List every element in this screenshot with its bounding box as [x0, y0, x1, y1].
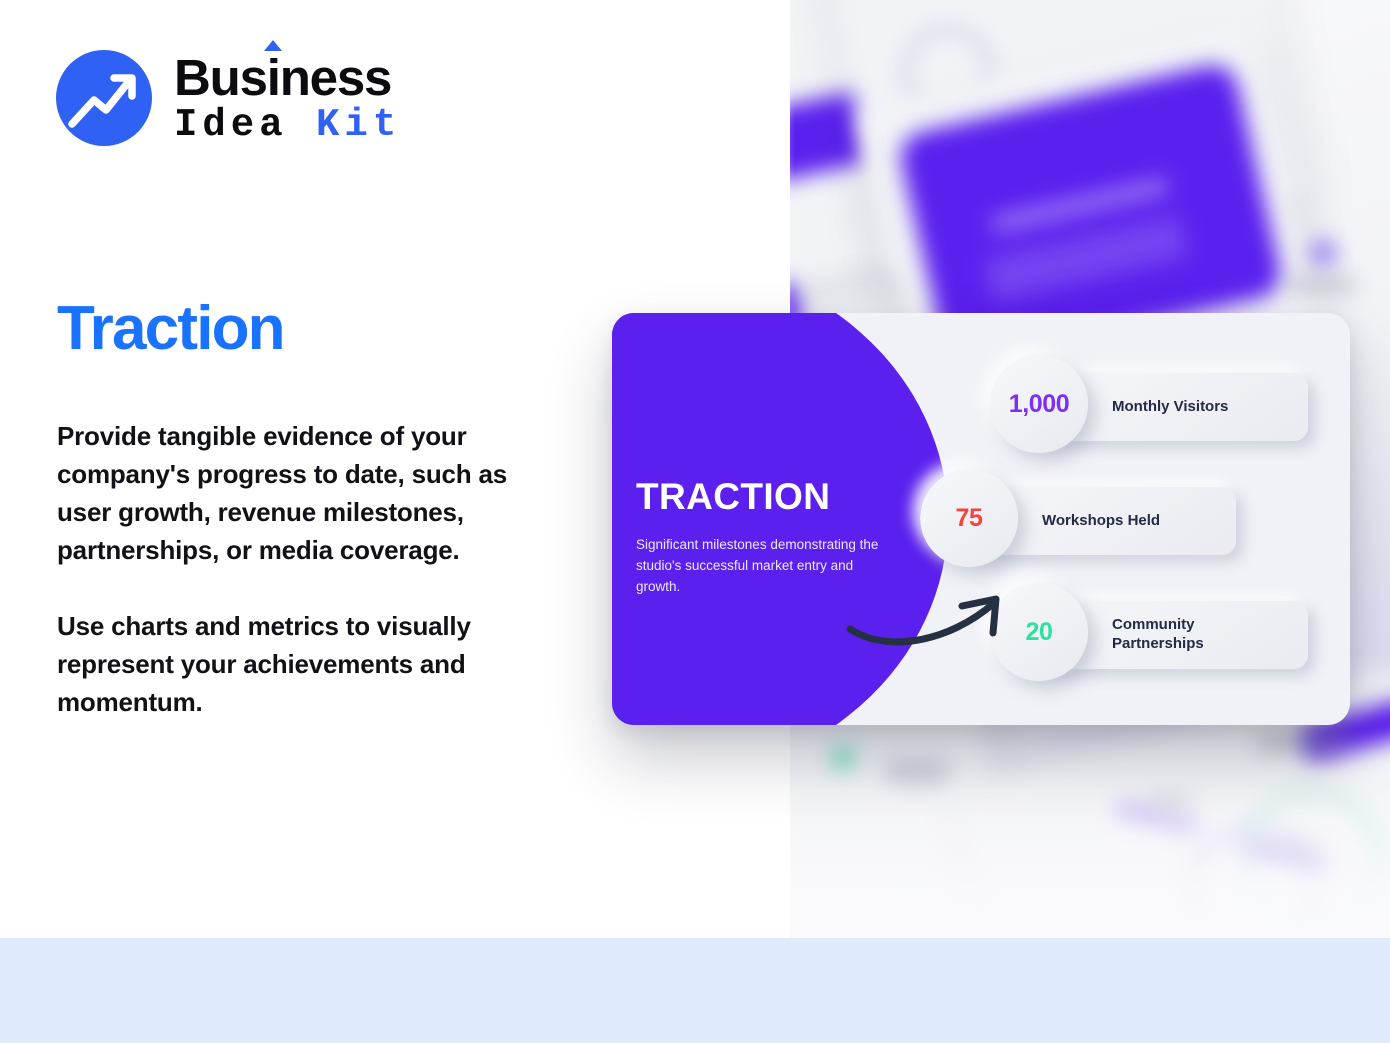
slide-purple-blob	[612, 313, 948, 725]
slide-page: Business Idea Kit Traction Provide tangi…	[0, 0, 1390, 1043]
brand-kit: Kit	[316, 103, 401, 147]
metric-row-monthly-visitors[interactable]: Monthly Visitors 1,000	[990, 355, 1330, 459]
metric-label: Community Partnerships	[1112, 616, 1262, 654]
chevron-up-accent-icon	[264, 40, 282, 51]
brand-business-i-letter: i	[267, 49, 280, 106]
metric-row-workshops-held[interactable]: Workshops Held 75	[920, 469, 1330, 573]
metric-value-bubble: 75	[920, 469, 1018, 567]
curved-arrow-up-right-icon	[844, 591, 1014, 656]
metric-label: Monthly Visitors	[1112, 398, 1228, 417]
metric-row-community-partnerships[interactable]: Community Partnerships 20	[990, 583, 1330, 687]
description-paragraph-1: Provide tangible evidence of your compan…	[57, 418, 562, 570]
slide-subtitle: Significant milestones demonstrating the…	[636, 535, 898, 598]
metric-value: 1,000	[1009, 390, 1070, 419]
metric-value-bubble: 1,000	[990, 355, 1088, 453]
bg-dot-1	[1310, 240, 1336, 266]
metric-value: 75	[955, 504, 982, 533]
description-paragraph-2: Use charts and metrics to visually repre…	[57, 608, 562, 722]
brand-line-idea-kit: Idea Kit	[174, 105, 401, 146]
trending-up-arrow-icon	[56, 50, 152, 146]
metric-value: 20	[1025, 618, 1052, 647]
bg-gray-bar-2	[1286, 278, 1356, 291]
page-title: Traction	[57, 296, 284, 361]
slide-title: TRACTION	[636, 476, 830, 518]
left-content-column: Business Idea Kit Traction Provide tangi…	[0, 0, 600, 938]
brand-logo: Business Idea Kit	[56, 50, 401, 146]
brand-business-pre: Bus	[174, 49, 267, 106]
brand-line-business: Business	[174, 53, 401, 103]
brand-business-i: i	[267, 53, 280, 103]
metrics-list: Monthly Visitors 1,000 Workshops Held 75…	[990, 355, 1330, 697]
metric-label: Workshops Held	[1042, 512, 1160, 531]
bg-bottom-fade	[790, 728, 1390, 938]
description-block: Provide tangible evidence of your compan…	[57, 418, 562, 722]
brand-wordmark: Business Idea Kit	[174, 51, 401, 146]
footer-band	[0, 938, 1390, 1043]
brand-business-post: ness	[280, 49, 391, 106]
brand-idea: Idea	[174, 103, 288, 147]
traction-slide-card[interactable]: TRACTION Significant milestones demonstr…	[612, 313, 1350, 725]
